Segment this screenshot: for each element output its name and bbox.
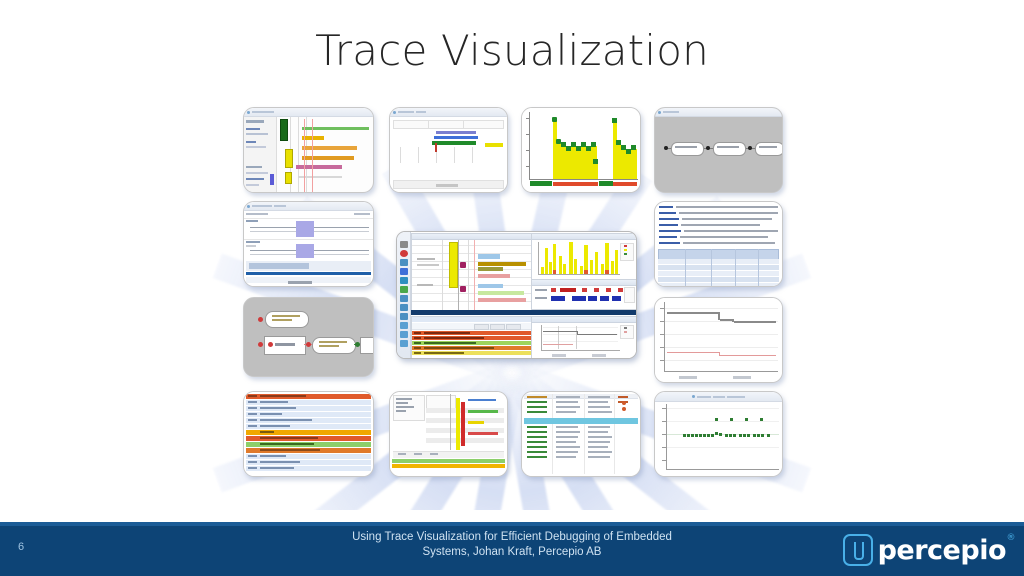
toolbar-icon[interactable]	[400, 259, 408, 266]
thumbnail-state-plot[interactable]	[654, 297, 783, 383]
percepio-wordmark: percepio ®	[878, 535, 1006, 566]
cpu-load-pane[interactable]	[531, 233, 637, 280]
thumbnail-trace-view[interactable]	[243, 107, 374, 193]
trace-gantt-pane[interactable]	[411, 233, 532, 311]
titlebar	[244, 202, 373, 211]
record-icon[interactable]	[400, 250, 408, 257]
thumbnail-response-time-plot[interactable]	[654, 391, 783, 477]
pane-splitter-bar[interactable]	[411, 310, 636, 315]
toolbar-icon[interactable]	[400, 313, 408, 320]
titlebar	[655, 392, 782, 402]
toolbar-sidebar[interactable]	[397, 232, 411, 358]
footer-accent-strip	[0, 522, 1024, 526]
toolbar-icon[interactable]	[400, 277, 408, 284]
thumbnail-event-signal-plot[interactable]	[243, 201, 374, 287]
titlebar	[655, 108, 782, 117]
brand-name: percepio	[878, 535, 1006, 566]
toolbar-icon[interactable]	[400, 331, 408, 338]
communication-pane[interactable]	[531, 279, 637, 310]
toolbar-icon[interactable]	[400, 268, 408, 275]
thumbnail-communication-flow[interactable]	[654, 107, 783, 193]
thumbnail-event-log[interactable]	[243, 391, 374, 477]
slide-footer: 6 Using Trace Visualization for Efficien…	[0, 522, 1024, 576]
toolbar-icon[interactable]	[400, 295, 408, 302]
thumbnail-kernel-object-view[interactable]	[389, 391, 508, 477]
titlebar	[390, 108, 507, 117]
center-main-window[interactable]	[396, 231, 637, 359]
event-log-pane[interactable]	[411, 316, 532, 359]
percepio-logo: percepio ®	[843, 534, 1006, 566]
toolbar-icon[interactable]	[400, 340, 408, 347]
thumbnail-event-table[interactable]	[521, 391, 641, 477]
percepio-mark-icon	[843, 534, 873, 566]
page-title: Trace Visualization	[0, 26, 1024, 75]
toolbar-icon[interactable]	[400, 322, 408, 329]
toolbar-icon[interactable]	[400, 304, 408, 311]
registered-mark: ®	[1007, 533, 1016, 543]
thumbnail-cpu-load-graph[interactable]	[521, 107, 641, 193]
toolbar-icon[interactable]	[400, 241, 408, 248]
toolbar-icon[interactable]	[400, 286, 408, 293]
signal-plot-pane[interactable]	[531, 316, 637, 359]
thumbnail-dependency-graph[interactable]	[243, 297, 374, 377]
titlebar	[244, 108, 373, 117]
thumbnail-actor-report[interactable]	[654, 201, 783, 287]
thumbnail-actor-instance-view[interactable]	[389, 107, 508, 193]
